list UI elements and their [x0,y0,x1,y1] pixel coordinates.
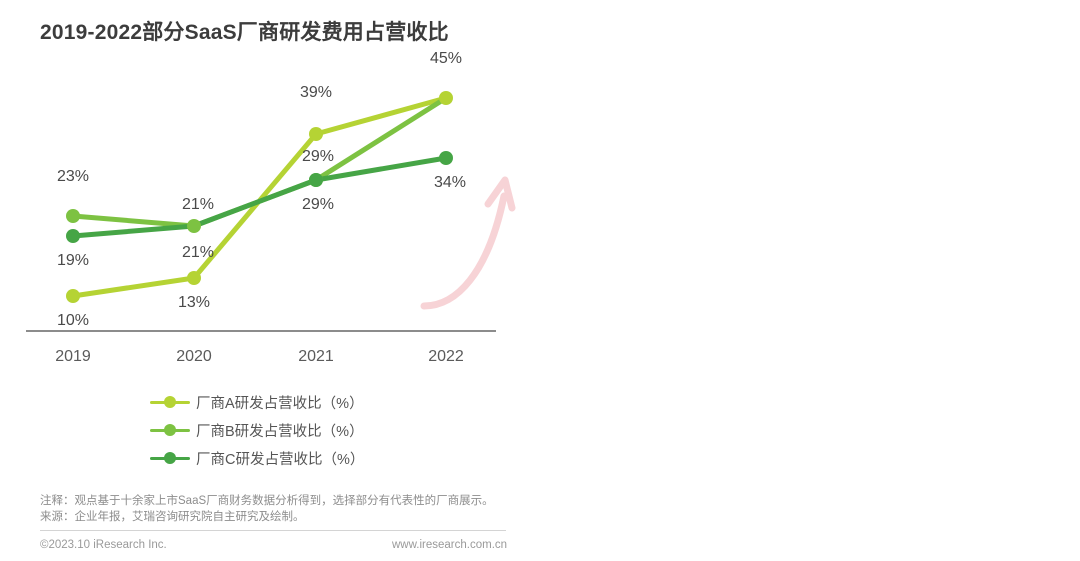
series-line-a [73,98,446,296]
left-panel: 2019-2022部分SaaS厂商研发费用占营收比 [0,0,541,561]
legend-swatch-c [150,451,190,465]
value-label-c-2020: 21% [182,244,214,262]
value-label-b-2021: 29% [302,148,334,166]
legend-item-c[interactable]: 厂商C研发占营收比（%） [150,444,364,472]
legend-item-a[interactable]: 厂商A研发占营收比（%） [150,388,364,416]
line-chart-svg [26,56,526,356]
left-source: 来源：企业年报，艾瑞咨询研究院自主研究及绘制。 [40,510,305,525]
left-divider [40,530,506,531]
legend-label-c: 厂商C研发占营收比（%） [196,448,364,469]
value-label-a-2020: 13% [178,294,210,312]
data-point [187,271,201,285]
x-tick-2020: 2020 [176,348,212,366]
legend-swatch-a [150,395,190,409]
line-chart: 10% 13% 39% 45% 23% 21% 29% 19% 21% 29% … [26,56,526,356]
value-label-c-2021: 29% [302,196,334,214]
value-label-a-2021: 39% [300,84,332,102]
x-tick-2022: 2022 [428,348,464,366]
growth-arrow-icon [424,180,512,306]
x-tick-2019: 2019 [55,348,91,366]
left-copyright: ©2023.10 iResearch Inc. [40,539,167,551]
series-line-b [73,98,446,226]
legend-label-a: 厂商A研发占营收比（%） [196,392,364,413]
value-label-c-2022: 34% [434,174,466,192]
data-point [439,91,453,105]
data-point [66,229,80,243]
data-point [66,289,80,303]
value-label-a-2022: 45% [430,50,462,68]
data-point [187,219,201,233]
data-point [309,173,323,187]
right-panel: 用户一体化需求与厂商开发能力存在摩擦 用户理想的产品形态：一体化、数据联通、统一… [541,0,1080,561]
left-note: 注释：观点基于十余家上市SaaS厂商财务数据分析得到，选择部分有代表性的厂商展示… [40,494,494,509]
value-label-b-2019: 23% [57,168,89,186]
value-label-c-2019: 19% [57,252,89,270]
legend-swatch-b [150,423,190,437]
legend-label-b: 厂商B研发占营收比（%） [196,420,364,441]
left-website: www.iresearch.com.cn [392,539,507,551]
x-axis-ticks: 2019 2020 2021 2022 [26,348,496,370]
left-chart-title: 2019-2022部分SaaS厂商研发费用占营收比 [40,16,449,46]
value-label-b-2020: 21% [182,196,214,214]
x-axis-line [26,330,496,332]
value-label-a-2019: 10% [57,312,89,330]
data-point [66,209,80,223]
data-point [439,151,453,165]
data-point [309,127,323,141]
legend-item-b[interactable]: 厂商B研发占营收比（%） [150,416,364,444]
chart-legend: 厂商A研发占营收比（%） 厂商B研发占营收比（%） 厂商C研发占营收比（%） [150,388,364,472]
x-tick-2021: 2021 [298,348,334,366]
slide-root: 2019-2022部分SaaS厂商研发费用占营收比 [0,0,1080,561]
